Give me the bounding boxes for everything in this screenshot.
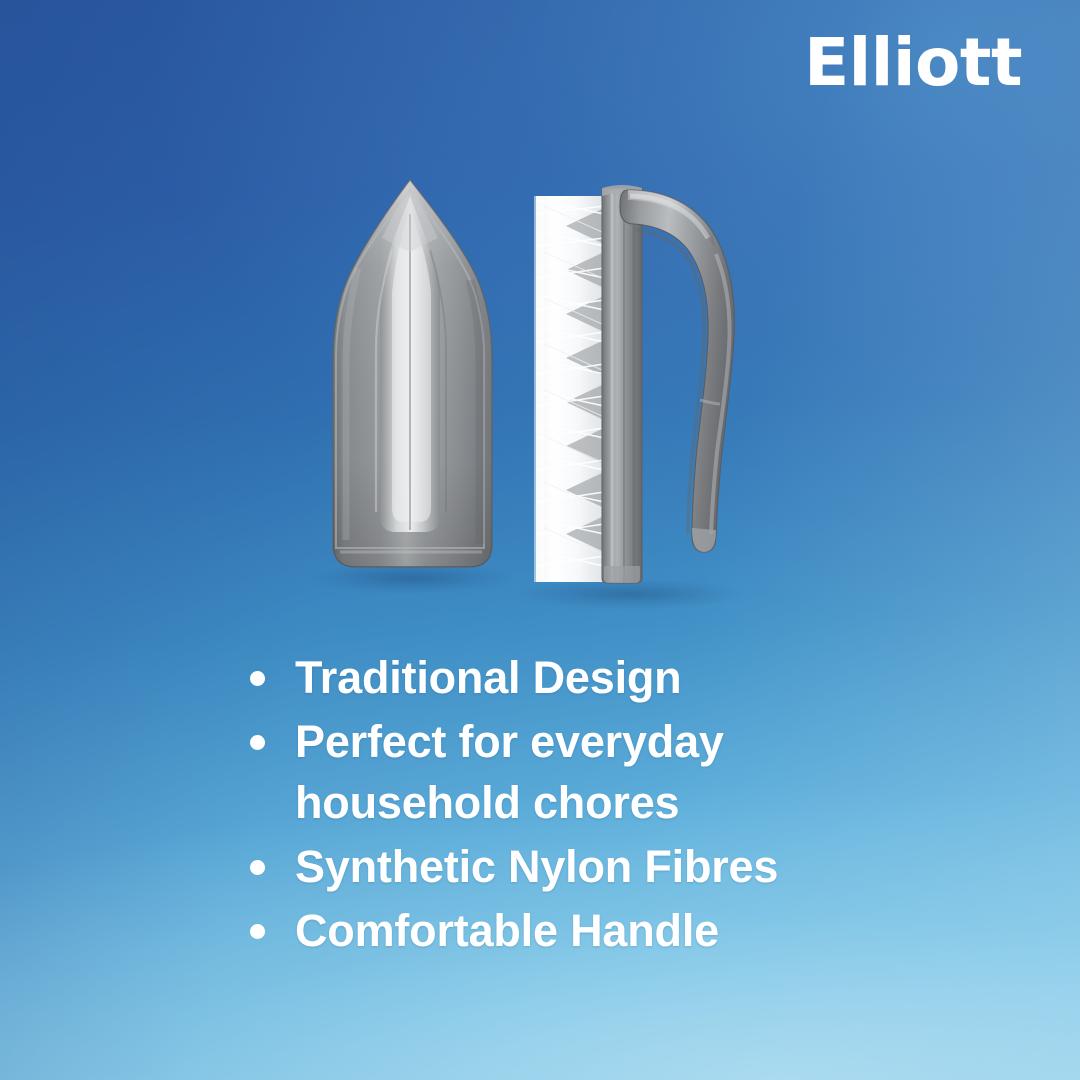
brush-bristles [534, 196, 604, 582]
product-iron-body [333, 180, 492, 567]
feature-item: Synthetic Nylon Fibres [250, 837, 950, 897]
feature-item: Perfect for everyday household chores [250, 712, 950, 833]
bullet-marker-icon [250, 735, 265, 750]
feature-item: Traditional Design [250, 648, 950, 708]
product-feature-image: Elliott [0, 0, 1080, 1080]
feature-label: Perfect for everyday household chores [295, 712, 950, 833]
feature-label: Synthetic Nylon Fibres [295, 837, 778, 897]
bullet-marker-icon [250, 924, 265, 939]
feature-item: Comfortable Handle [250, 901, 950, 961]
product-image-stage [0, 0, 1080, 640]
product-brush-side [534, 185, 734, 583]
feature-label: Comfortable Handle [295, 901, 719, 961]
brush-base-plate [602, 185, 642, 583]
bullet-marker-icon [250, 860, 265, 875]
feature-list: Traditional Design Perfect for everyday … [250, 648, 950, 965]
feature-label: Traditional Design [295, 648, 681, 708]
bullet-marker-icon [250, 671, 265, 686]
